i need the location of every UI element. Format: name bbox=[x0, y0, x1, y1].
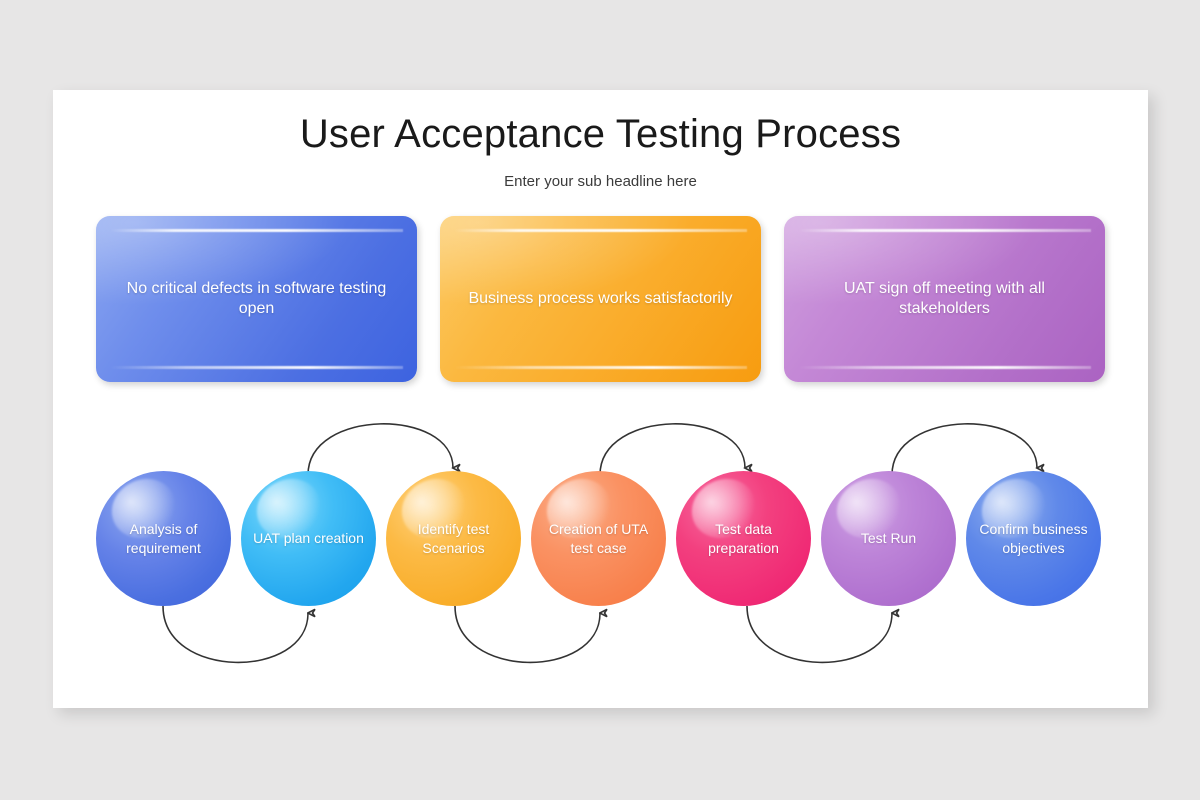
criteria-box-business-process-works[interactable]: Business process works satisfactorily bbox=[440, 216, 761, 382]
slide-stage: User Acceptance Testing Process Enter yo… bbox=[0, 0, 1200, 800]
page-subtitle: Enter your sub headline here bbox=[53, 173, 1148, 190]
connector-arc-above-6-7 bbox=[892, 424, 1037, 475]
process-circle-label: UAT plan creation bbox=[241, 471, 376, 606]
process-circle-label: Analysis of requirement bbox=[96, 471, 231, 606]
process-circle-label: Identify test Scenarios bbox=[386, 471, 521, 606]
criteria-box-no-critical-defects[interactable]: No critical defects in software testing … bbox=[96, 216, 417, 382]
process-circle-confirm-business-objectives[interactable]: Confirm business objectives bbox=[966, 471, 1101, 606]
process-circle-label: Test Run bbox=[821, 471, 956, 606]
process-circle-test-data-preparation[interactable]: Test data preparation bbox=[676, 471, 811, 606]
process-circle-identify-test-scenarios[interactable]: Identify test Scenarios bbox=[386, 471, 521, 606]
process-circle-uat-plan-creation[interactable]: UAT plan creation bbox=[241, 471, 376, 606]
slide-canvas: User Acceptance Testing Process Enter yo… bbox=[53, 90, 1148, 708]
process-circle-label: Test data preparation bbox=[676, 471, 811, 606]
connector-arc-below-1-2 bbox=[163, 606, 308, 662]
criteria-box-uat-sign-off[interactable]: UAT sign off meeting with all stakeholde… bbox=[784, 216, 1105, 382]
process-circle-analysis-of-requirement[interactable]: Analysis of requirement bbox=[96, 471, 231, 606]
criteria-box-label: Business process works satisfactorily bbox=[440, 216, 761, 382]
criteria-box-label: No critical defects in software testing … bbox=[96, 216, 417, 382]
criteria-box-label: UAT sign off meeting with all stakeholde… bbox=[784, 216, 1105, 382]
process-circle-label: Confirm business objectives bbox=[966, 471, 1101, 606]
page-title: User Acceptance Testing Process bbox=[53, 112, 1148, 157]
connector-arc-below-3-4 bbox=[455, 606, 600, 662]
connector-arc-above-2-3 bbox=[308, 424, 453, 475]
connector-arc-below-5-6 bbox=[747, 606, 892, 662]
process-circle-label: Creation of UTA test case bbox=[531, 471, 666, 606]
process-circle-test-run[interactable]: Test Run bbox=[821, 471, 956, 606]
connector-arc-above-4-5 bbox=[600, 424, 745, 475]
process-circle-creation-of-uta-test-case[interactable]: Creation of UTA test case bbox=[531, 471, 666, 606]
